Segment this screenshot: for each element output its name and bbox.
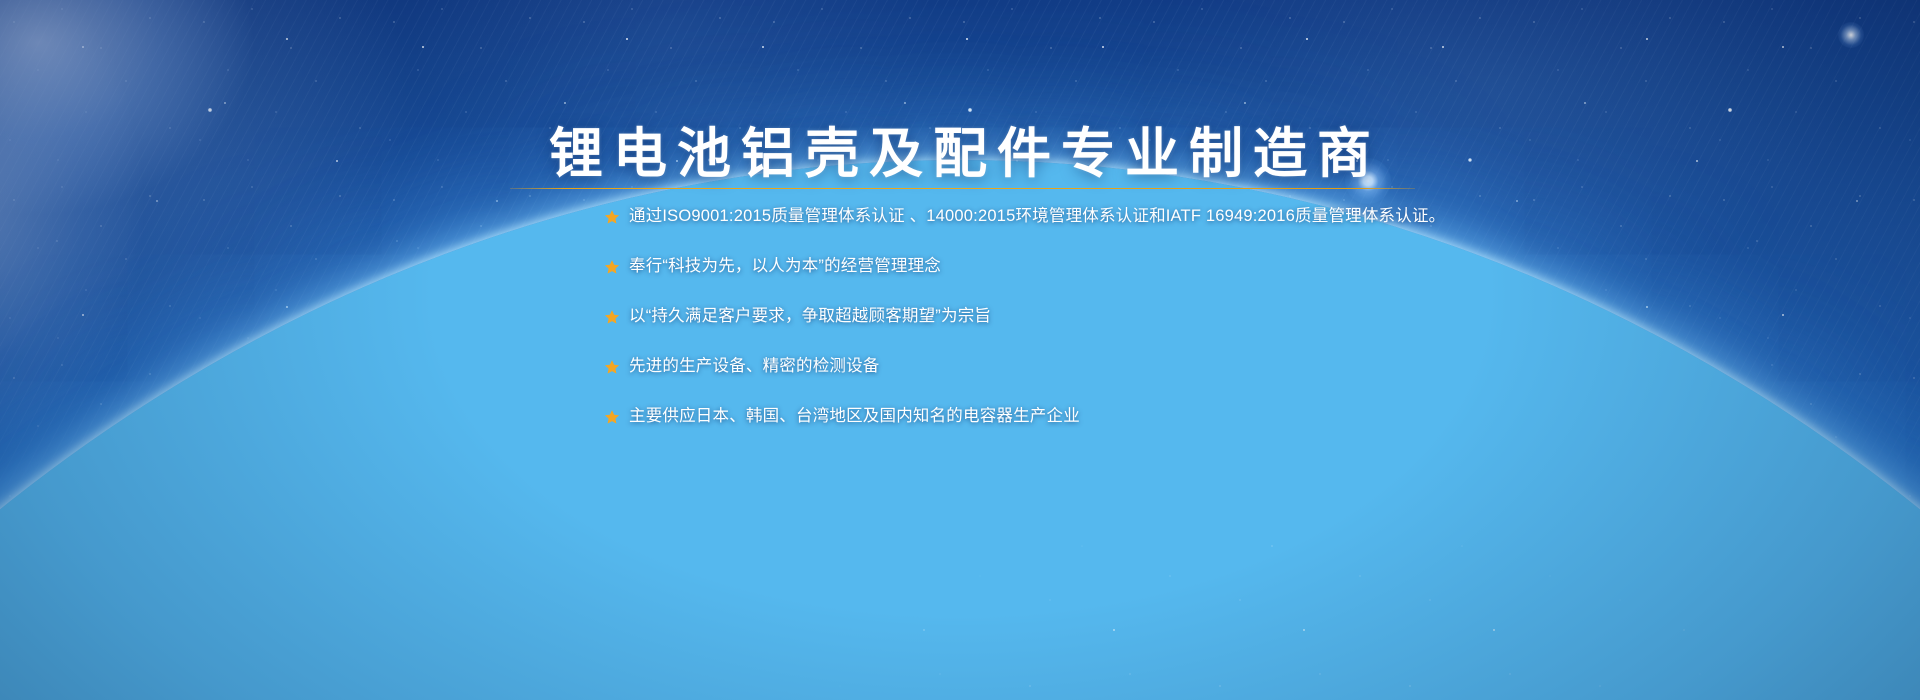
star-icon (604, 209, 620, 225)
star-icon (604, 359, 620, 375)
star-icon (604, 259, 620, 275)
list-item-label: 通过ISO9001:2015质量管理体系认证 、14000:2015环境管理体系… (629, 205, 1445, 228)
list-item: 以“持久满足客户要求，争取超越顾客期望”为宗旨 (604, 298, 1864, 336)
list-item: 主要供应日本、韩国、台湾地区及国内知名的电容器生产企业 (604, 398, 1864, 436)
feature-list: 通过ISO9001:2015质量管理体系认证 、14000:2015环境管理体系… (604, 198, 1864, 448)
star-icon (604, 309, 620, 325)
list-item-label: 奉行“科技为先，以人为本”的经营管理理念 (629, 255, 941, 278)
hero-banner: 锂电池铝壳及配件专业制造商 通过ISO9001:2015质量管理体系认证 、14… (0, 0, 1920, 700)
list-item-label: 以“持久满足客户要求，争取超越顾客期望”为宗旨 (629, 305, 991, 328)
list-item-label: 主要供应日本、韩国、台湾地区及国内知名的电容器生产企业 (629, 405, 1080, 428)
page-title: 锂电池铝壳及配件专业制造商 (0, 125, 1920, 183)
list-item-label: 先进的生产设备、精密的检测设备 (629, 355, 880, 378)
banner-content: 锂电池铝壳及配件专业制造商 通过ISO9001:2015质量管理体系认证 、14… (0, 0, 1920, 700)
list-item: 先进的生产设备、精密的检测设备 (604, 348, 1864, 386)
title-divider (510, 188, 1415, 189)
list-item: 奉行“科技为先，以人为本”的经营管理理念 (604, 248, 1864, 286)
list-item: 通过ISO9001:2015质量管理体系认证 、14000:2015环境管理体系… (604, 198, 1864, 236)
star-icon (604, 409, 620, 425)
